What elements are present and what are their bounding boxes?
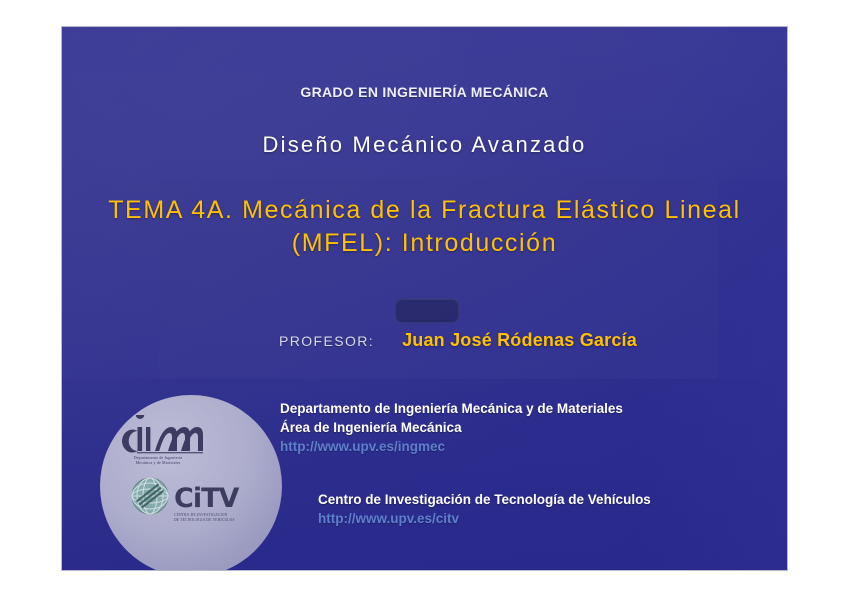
research-center-block: Centro de Investigación de Tecnología de…: [318, 490, 651, 528]
pill-shape-artifact: [395, 299, 459, 323]
course-title: Diseño Mecánico Avanzado: [62, 132, 787, 158]
background-band-right: [637, 27, 787, 570]
presentation-slide: Departamento de Ingeniería Mecánica y de…: [62, 27, 787, 570]
professor-row: PROFESOR: Juan José Ródenas García: [279, 330, 637, 351]
dimm-logo-mark: [110, 415, 206, 457]
professor-label: PROFESOR:: [279, 333, 374, 349]
dimm-logo: Departamento de Ingeniería Mecánica y de…: [110, 415, 206, 473]
professor-name: Juan José Ródenas García: [402, 330, 637, 351]
citv-logo: CiTV CENTRO DE INVESTIGACION DE TECNOLOG…: [130, 475, 248, 537]
department-area: Área de Ingeniería Mecánica: [280, 418, 623, 437]
department-block: Departamento de Ingeniería Mecánica y de…: [280, 399, 623, 456]
citv-wordmark: CiTV: [174, 483, 238, 514]
dimm-logo-caption: Departamento de Ingeniería Mecánica y de…: [110, 455, 206, 465]
department-url[interactable]: http://www.upv.es/ingmec: [280, 437, 623, 456]
topic-title: TEMA 4A. Mecánica de la Fractura Elástic…: [62, 194, 787, 260]
degree-heading: GRADO EN INGENIERÍA MECÁNICA: [62, 84, 787, 100]
citv-logo-caption: CENTRO DE INVESTIGACION DE TECNOLOGIA DE…: [174, 513, 248, 522]
slide-canvas: Departamento de Ingeniería Mecánica y de…: [0, 0, 848, 599]
research-center-name: Centro de Investigación de Tecnología de…: [318, 490, 651, 509]
research-center-url[interactable]: http://www.upv.es/citv: [318, 509, 651, 528]
department-name: Departamento de Ingeniería Mecánica y de…: [280, 399, 623, 418]
citv-globe-icon: [130, 475, 172, 517]
